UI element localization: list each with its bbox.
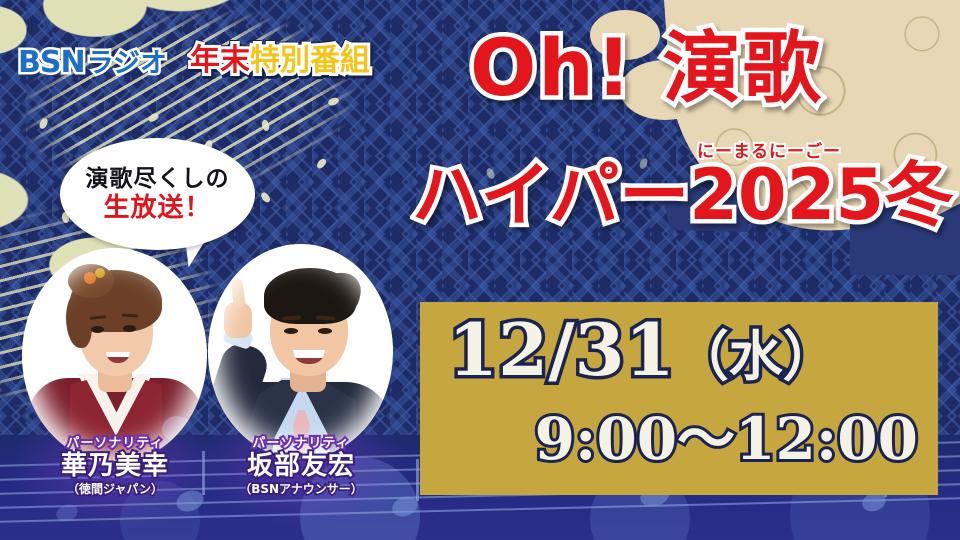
broadcast-time: 9:00〜12:00 [535,410,918,468]
personality-caption-male: パーソナリティ 坂部友宏 （BSNアナウンサー） [206,437,396,496]
photo-soft-edge-male [208,244,393,459]
bsn-radio-label: ラジオ [87,50,167,77]
program-title-line2: ハイパー2025冬 [412,160,954,230]
personality-name-male: 坂部友宏 [206,452,396,482]
badge-gold-text: 特別番組 [250,43,370,78]
broadcast-date-line: 12/31（水） [448,314,837,386]
personality-role-male: パーソナリティ [206,437,396,451]
speech-bubble-line2: 生放送！ [103,194,211,223]
program-title-line1: Oh! 演歌 [470,30,823,108]
station-logo: BSN ラジオ [18,48,167,78]
personality-photo-female [22,248,207,463]
speech-bubble-line1: 演歌尽くしの [86,166,230,191]
badge-red-text: 年末 [190,43,250,78]
personality-org-male: （BSNアナウンサー） [206,483,396,496]
personality-name-female: 華乃美幸 [20,452,210,482]
broadcast-weekday: （水） [675,324,837,388]
personality-caption-female: パーソナリティ 華乃美幸 （徳間ジャパン） [20,437,210,496]
photo-soft-edge-female [22,248,207,463]
year-end-special-badge: 年末特別番組 [190,46,370,76]
personality-role-female: パーソナリティ [20,437,210,451]
personality-org-female: （徳間ジャパン） [20,483,210,496]
broadcast-date-box: 12/31（水） 9:00〜12:00 [420,302,938,495]
broadcast-date: 12/31 [448,307,675,392]
poster-canvas: BSN ラジオ 年末特別番組 演歌尽くしの 生放送！ Oh! 演歌 にーまるにー… [0,0,960,540]
bsn-logo-text: BSN [18,48,85,78]
personality-photo-male [208,244,393,459]
speech-bubble: 演歌尽くしの 生放送！ [60,138,255,250]
